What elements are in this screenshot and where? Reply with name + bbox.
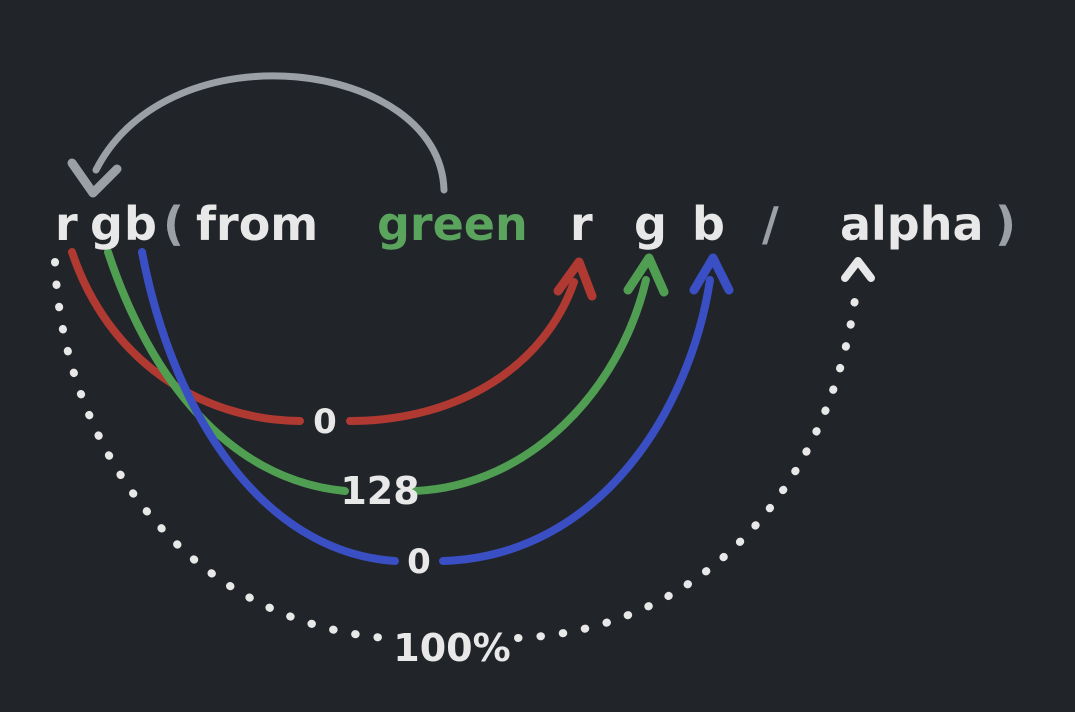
token-paren-open: ( [163, 197, 184, 251]
alpha-value-label: 100% [393, 626, 510, 670]
from-origin-arc [72, 76, 444, 193]
alpha-curve-right-segment [518, 292, 856, 638]
green-value-label: 128 [340, 469, 419, 513]
token-rgb-g[interactable]: g [90, 197, 123, 251]
token-from-keyword[interactable]: from [196, 197, 318, 251]
blue-curve-left-segment [142, 252, 395, 561]
diagram-canvas: 0 128 0 100% r g b ( from [0, 0, 1075, 712]
from-origin-arc-path [96, 76, 444, 190]
blue-curve-right-segment [443, 280, 710, 561]
token-channel-g[interactable]: g [634, 197, 667, 251]
red-value-label: 0 [313, 402, 337, 442]
token-origin-color[interactable]: green [377, 197, 528, 251]
token-channel-alpha[interactable]: alpha [840, 197, 984, 251]
green-channel-mapping: 128 [108, 252, 664, 513]
token-channel-b[interactable]: b [692, 197, 725, 251]
syntax-line: r g b ( from green r g b / alpha ) [55, 197, 1016, 251]
green-curve-right-segment [415, 280, 646, 491]
blue-value-label: 0 [407, 542, 431, 582]
token-paren-close: ) [995, 197, 1016, 251]
red-curve-right-segment [350, 282, 574, 421]
relative-color-syntax-diagram: 0 128 0 100% r g b ( from [0, 0, 1075, 712]
token-rgb-r[interactable]: r [55, 197, 78, 251]
token-rgb-b[interactable]: b [124, 197, 157, 251]
token-channel-r[interactable]: r [570, 197, 593, 251]
alpha-arrowhead [845, 261, 871, 278]
alpha-channel-mapping: 100% [55, 261, 871, 670]
token-slash: / [762, 197, 779, 251]
